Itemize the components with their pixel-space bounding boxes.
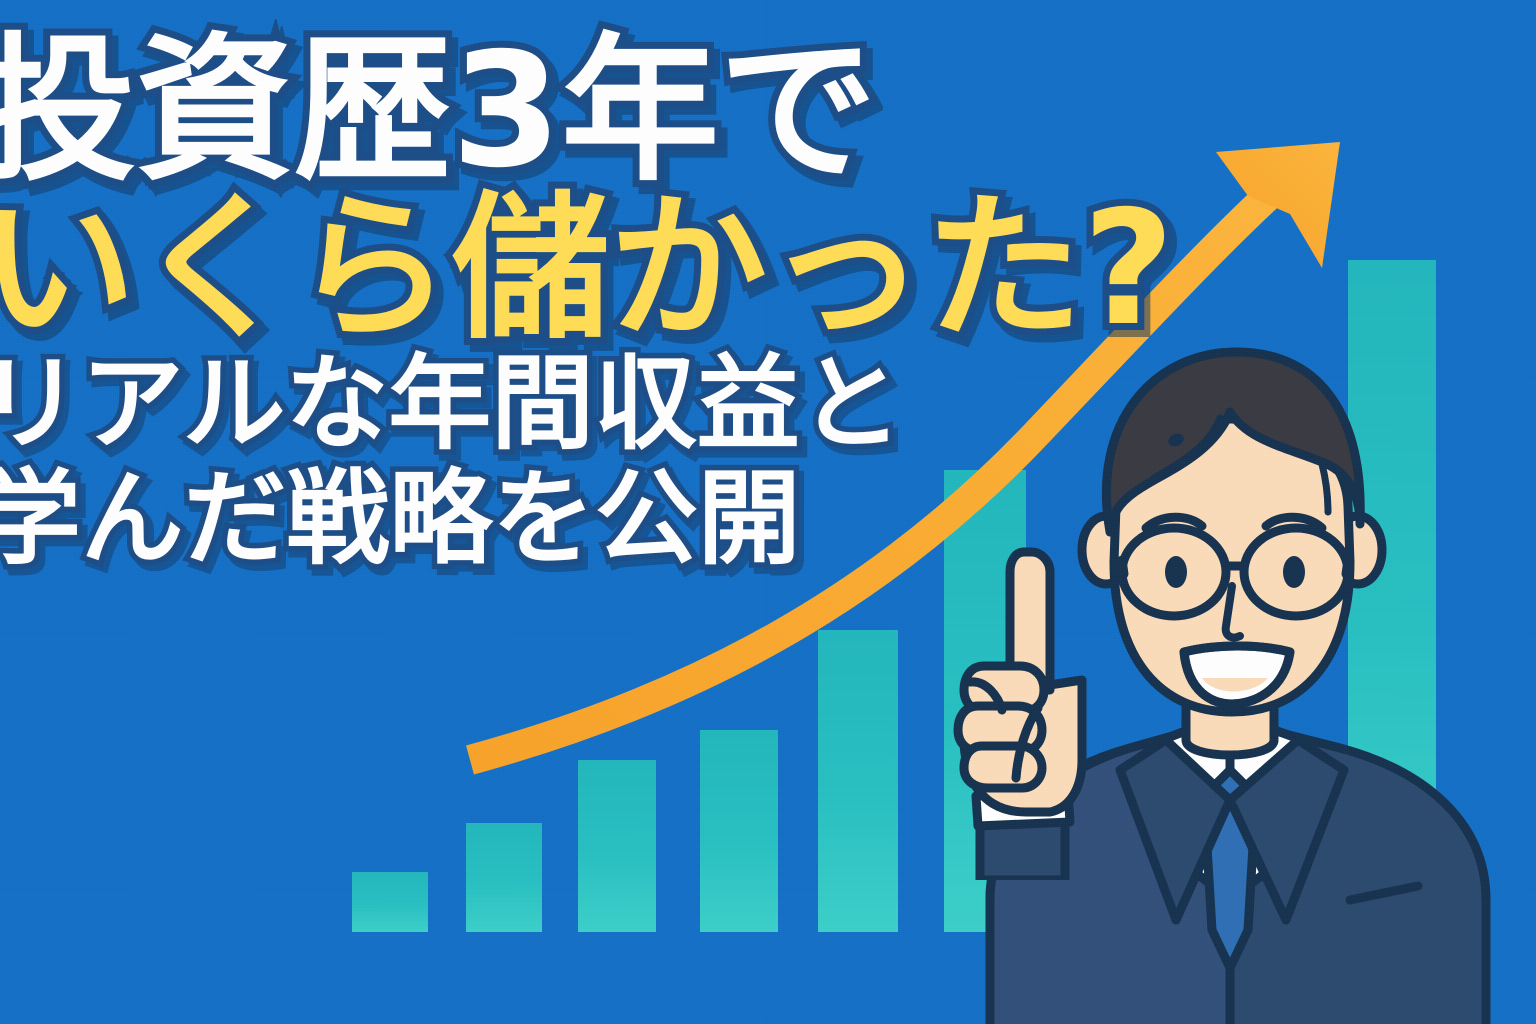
pointing-hand-icon <box>940 520 1190 880</box>
bar-4 <box>700 730 778 932</box>
bar-2 <box>466 823 542 932</box>
headline-line-1: 投資歴3年で <box>0 36 1174 188</box>
bar-3 <box>578 760 656 932</box>
thumbnail-canvas: 投資歴3年で いくら儲かった? リアルな年間収益と 学んだ戦略を公開 <box>0 0 1536 1024</box>
bar-1 <box>352 872 428 932</box>
bar-5 <box>818 630 898 932</box>
